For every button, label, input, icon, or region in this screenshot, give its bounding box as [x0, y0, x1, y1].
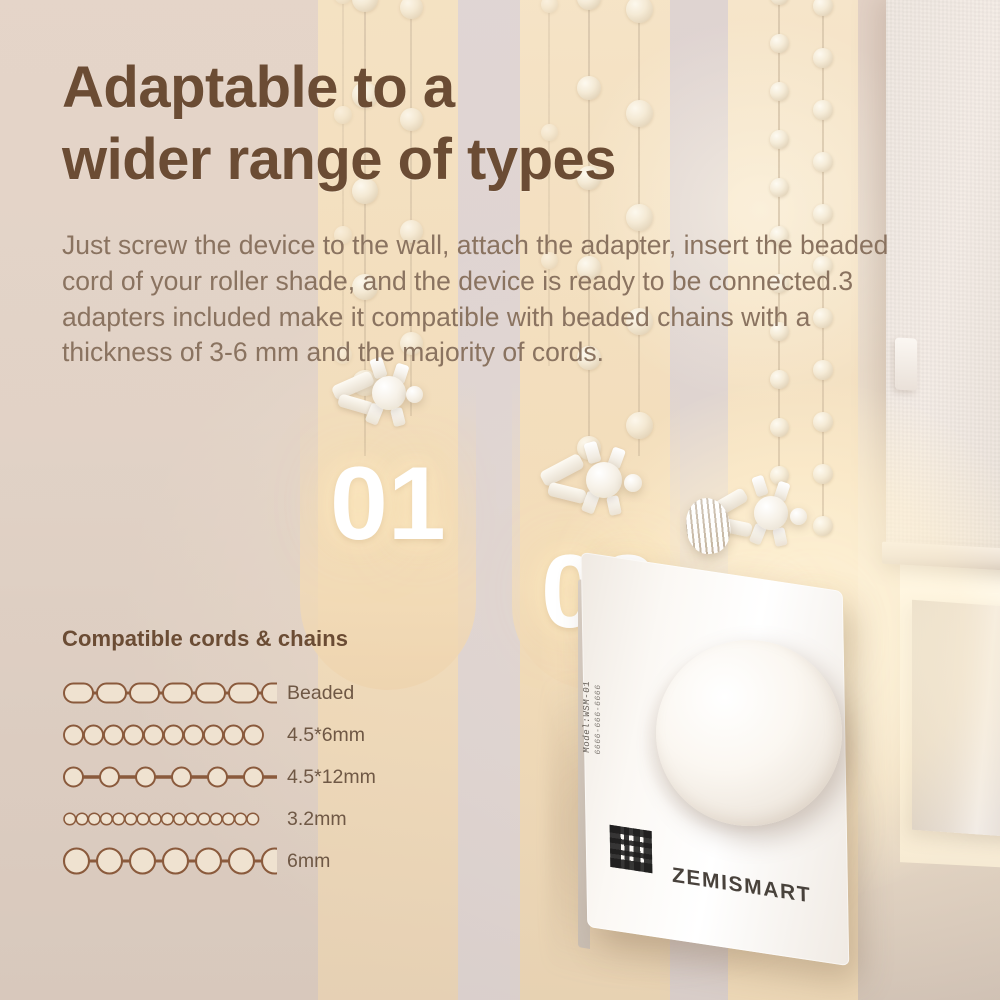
device-serial-text: Model:WSM-01 6666-666-6666 — [582, 602, 603, 755]
legend-row-label: 6mm — [287, 850, 330, 873]
legend-row: 4.5*6mm — [62, 716, 422, 754]
legend-row: 4.5*12mm — [62, 758, 422, 796]
chain-glyph-oval-link — [62, 678, 277, 708]
compatibility-legend: Compatible cords & chains Beaded4.5*6mm4… — [62, 626, 422, 884]
legend-row: 6mm — [62, 842, 422, 880]
serial-line-1: Model:WSM-01 — [582, 680, 592, 754]
legend-row: Beaded — [62, 674, 422, 712]
step-number-01: 01 — [330, 452, 446, 556]
marketing-image: Adaptable to a wider range of types Just… — [0, 0, 1000, 1000]
legend-title: Compatible cords & chains — [62, 626, 422, 652]
legend-row-label: Beaded — [287, 682, 354, 705]
chain-glyph-touching-dots — [62, 720, 277, 750]
chain-glyph-large-dots — [62, 846, 277, 876]
smart-blind-driver-device: Model:WSM-01 6666-666-6666 ZEMISMART — [560, 556, 880, 976]
adapter-part-2 — [540, 438, 660, 530]
serial-line-2: 6666-666-6666 — [594, 604, 603, 755]
qr-code-icon — [610, 825, 653, 873]
legend-row: 3.2mm — [62, 800, 422, 838]
page-title: Adaptable to a wider range of types — [62, 52, 762, 196]
body-paragraph: Just screw the device to the wall, attac… — [62, 228, 920, 371]
legend-row-label: 4.5*12mm — [287, 766, 376, 789]
chain-glyph-tiny-dots — [62, 804, 277, 834]
chain-glyph-spaced-dots — [62, 762, 277, 792]
legend-row-label: 4.5*6mm — [287, 724, 365, 747]
legend-row-label: 3.2mm — [287, 808, 347, 831]
